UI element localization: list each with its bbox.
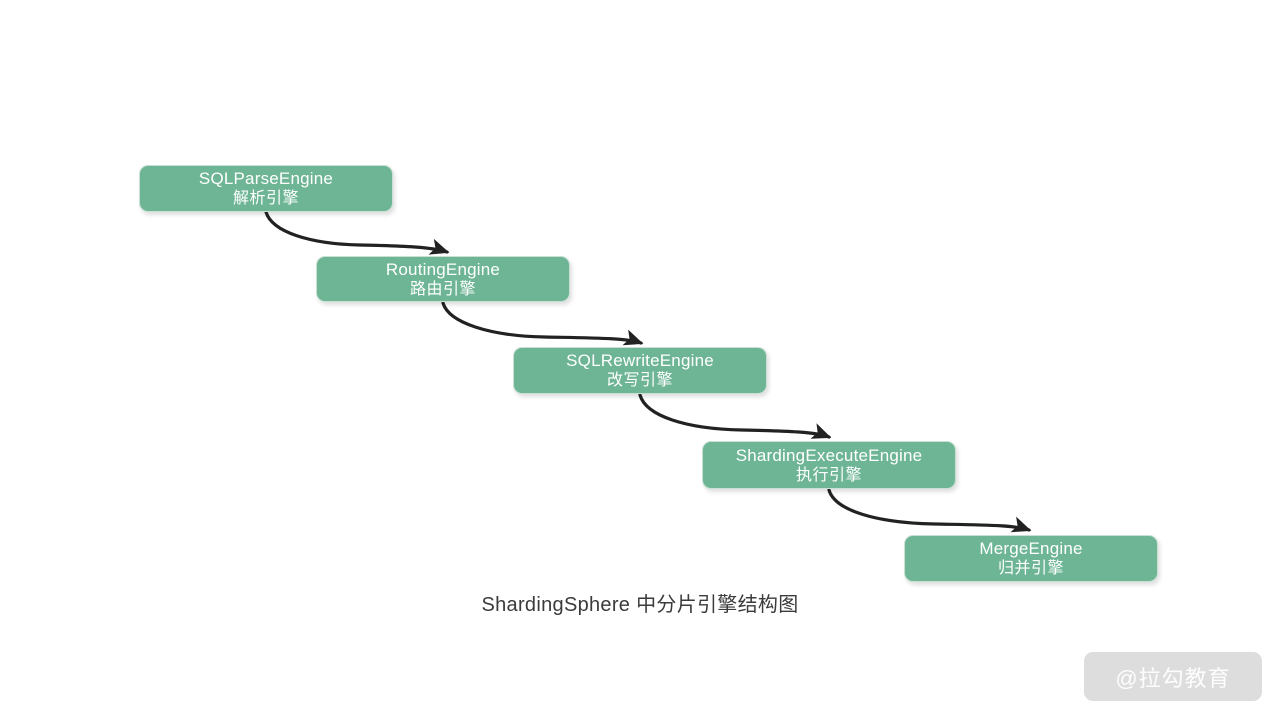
node-title-cn: 路由引擎 <box>410 280 476 300</box>
node-title-en: SQLParseEngine <box>199 168 333 189</box>
node-title-en: ShardingExecuteEngine <box>736 445 923 466</box>
node-sql-rewrite-engine[interactable]: SQLRewriteEngine 改写引擎 <box>513 347 767 394</box>
node-routing-engine[interactable]: RoutingEngine 路由引擎 <box>316 256 570 302</box>
watermark-badge: @拉勾教育 <box>1084 652 1262 701</box>
node-title-cn: 执行引擎 <box>796 466 862 486</box>
node-title-cn: 归并引擎 <box>998 559 1064 579</box>
arrow-routing-to-rewrite <box>443 303 641 343</box>
arrow-execute-to-merge <box>829 490 1029 530</box>
node-sql-parse-engine[interactable]: SQLParseEngine 解析引擎 <box>139 165 393 212</box>
node-title-cn: 解析引擎 <box>233 189 299 209</box>
node-title-en: RoutingEngine <box>386 259 500 280</box>
watermark-text: @拉勾教育 <box>1115 661 1230 693</box>
arrow-parse-to-routing <box>266 212 447 252</box>
node-title-en: MergeEngine <box>979 538 1082 559</box>
diagram-caption: ShardingSphere 中分片引擎结构图 <box>0 588 1280 617</box>
node-title-en: SQLRewriteEngine <box>566 350 714 371</box>
node-sharding-execute-engine[interactable]: ShardingExecuteEngine 执行引擎 <box>702 441 956 489</box>
node-merge-engine[interactable]: MergeEngine 归并引擎 <box>904 535 1158 582</box>
node-title-cn: 改写引擎 <box>607 371 673 391</box>
diagram-canvas: SQLParseEngine 解析引擎 RoutingEngine 路由引擎 S… <box>0 0 1280 720</box>
arrow-rewrite-to-execute <box>640 395 829 437</box>
